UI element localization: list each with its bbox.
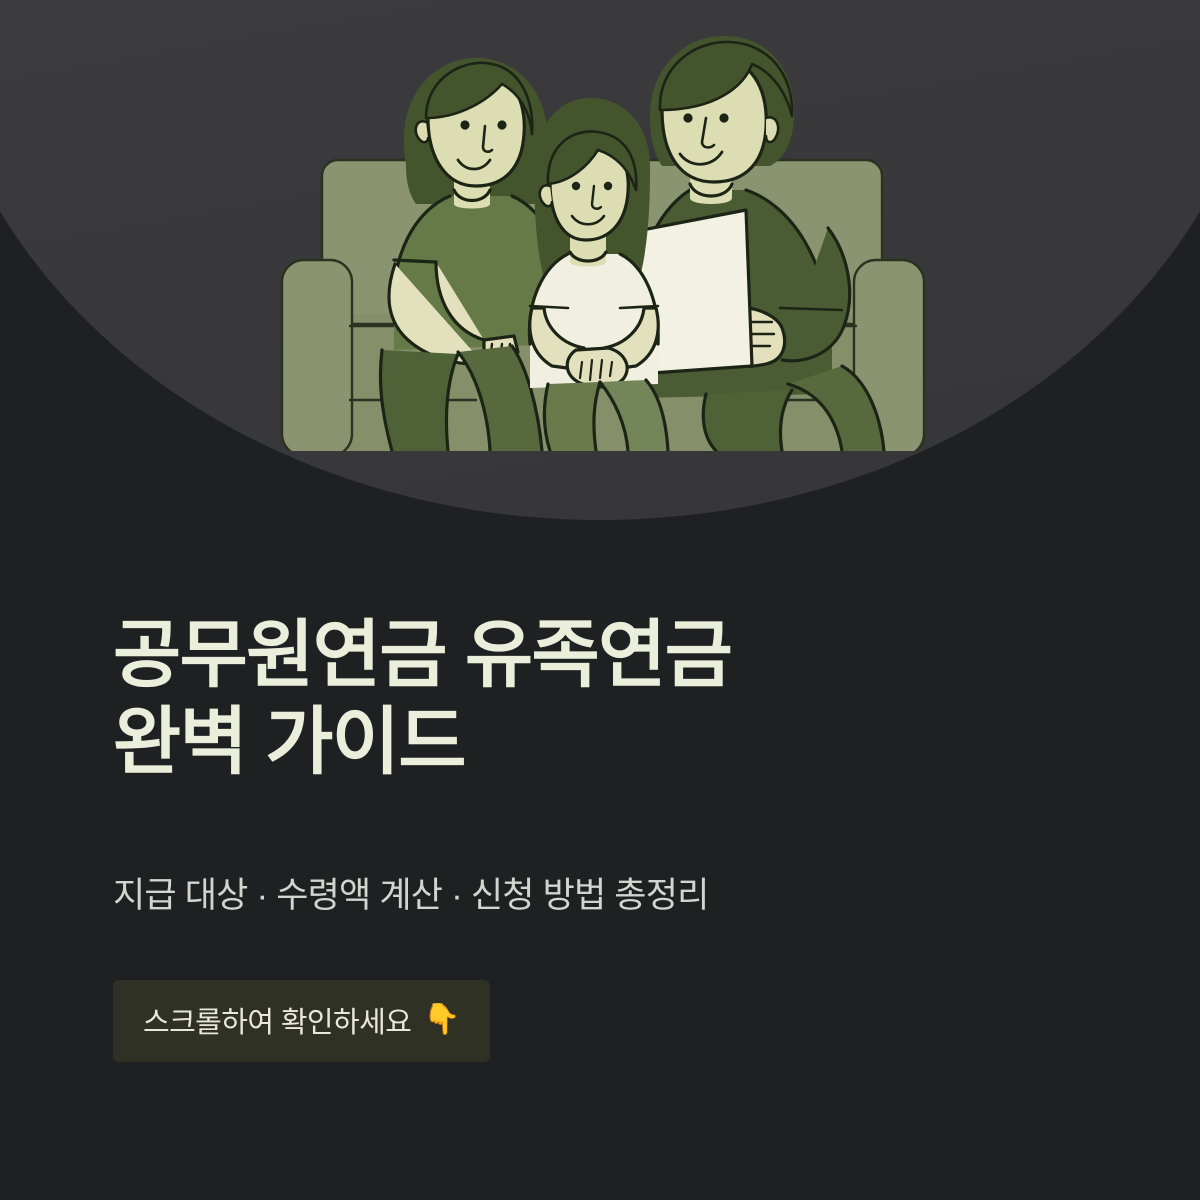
scroll-cta-badge[interactable]: 스크롤하여 확인하세요 👇	[113, 980, 490, 1062]
promo-card: 공무원연금 유족연금 완벽 가이드 지급 대상 · 수령액 계산 · 신청 방법…	[0, 0, 1200, 1200]
page-title: 공무원연금 유족연금 완벽 가이드	[113, 612, 1113, 785]
page-subtitle: 지급 대상 · 수령액 계산 · 신청 방법 총정리	[113, 785, 1113, 918]
pointing-down-icon: 👇	[423, 1005, 460, 1035]
hero-text-block: 공무원연금 유족연금 완벽 가이드 지급 대상 · 수령액 계산 · 신청 방법…	[113, 612, 1113, 1062]
scroll-cta-label: 스크롤하여 확인하세요	[143, 999, 411, 1041]
family-illustration	[276, 14, 928, 451]
